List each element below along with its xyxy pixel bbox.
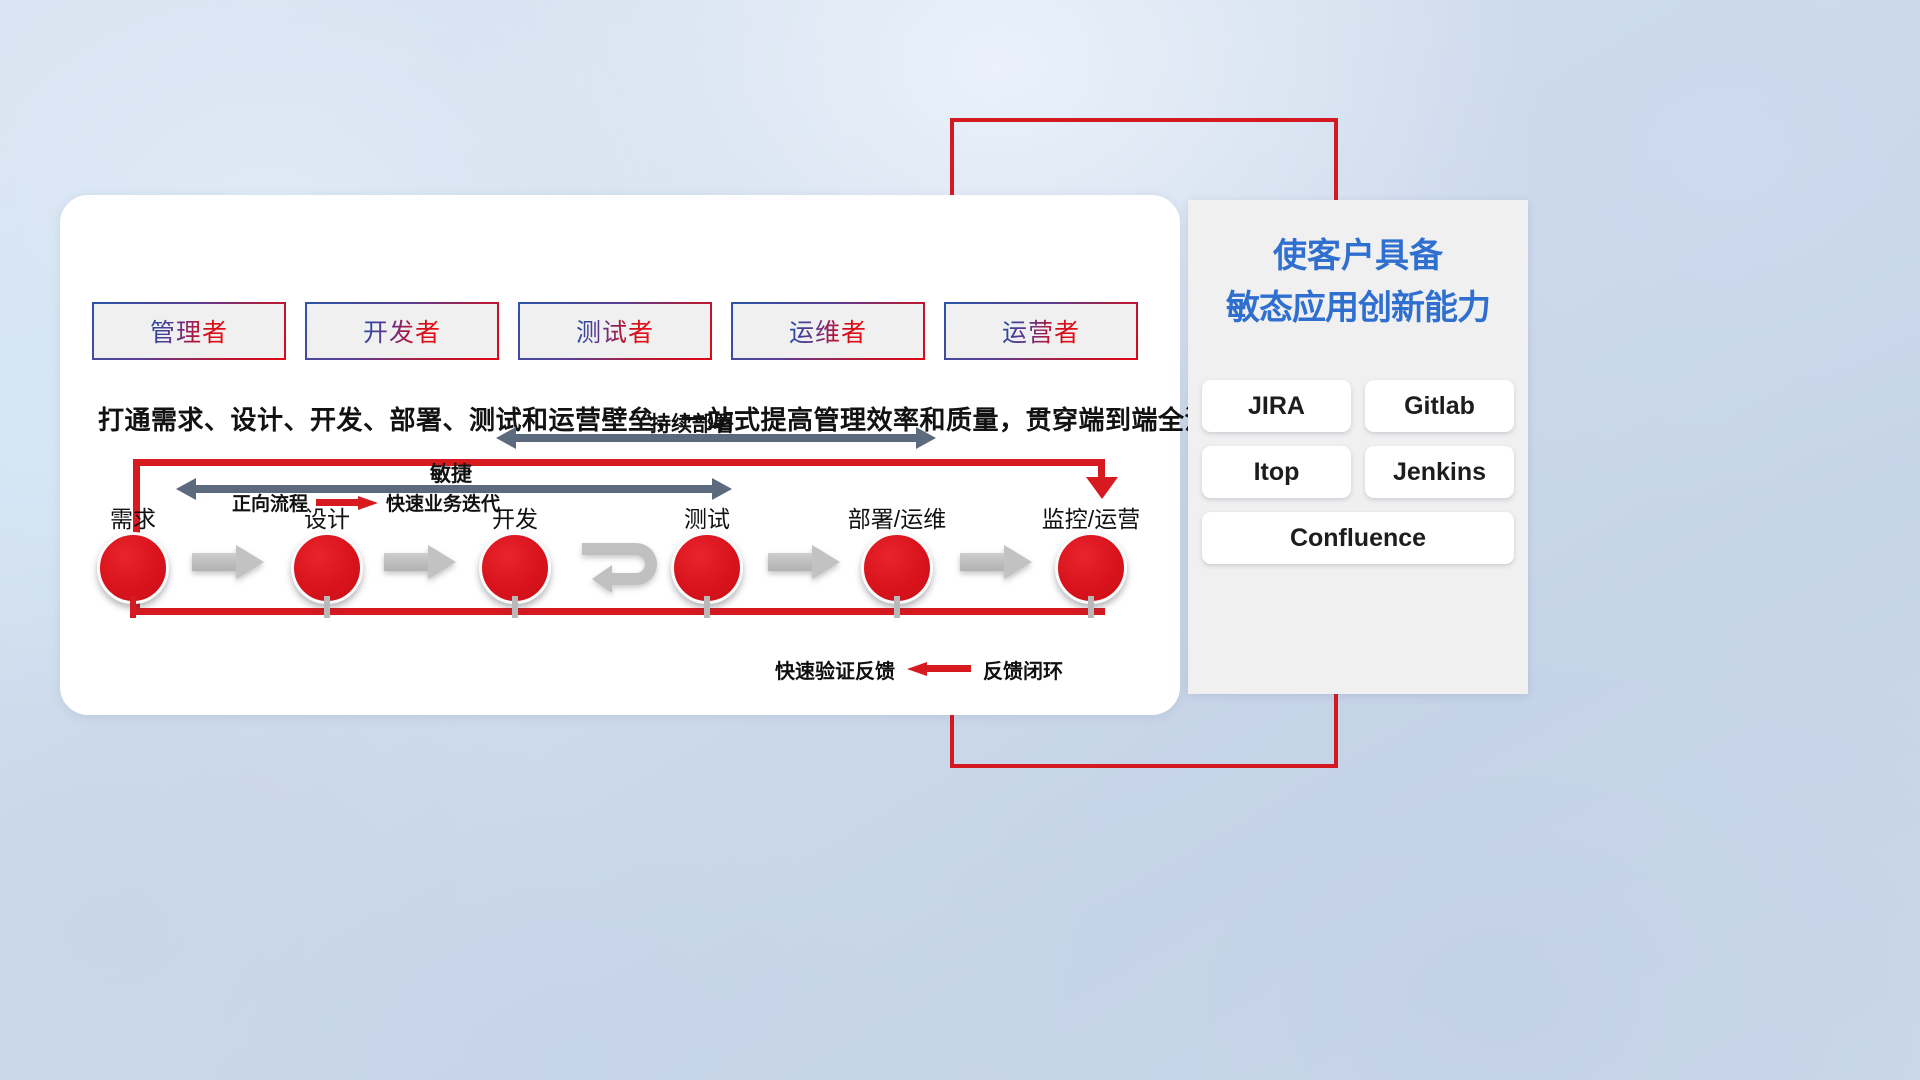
tool-chip-jenkins[interactable]: Jenkins: [1365, 446, 1514, 498]
u-turn-loop-icon: [578, 535, 674, 593]
node-label: 测试: [684, 500, 730, 534]
role-box-row: 管理者 开发者 测试者 运维者 运营者: [92, 302, 1138, 360]
role-box-developer[interactable]: 开发者: [305, 302, 499, 360]
node-label: 设计: [304, 500, 350, 534]
connector-arrow-icon-4: [960, 545, 1032, 579]
main-white-card: [60, 195, 1180, 715]
role-box-operations[interactable]: 运营者: [944, 302, 1138, 360]
node-circle-icon: [291, 532, 363, 604]
panel-title-line2: 敏态应用创新能力: [1188, 282, 1528, 334]
role-label: 开发者: [363, 313, 441, 349]
node-stem: [512, 596, 518, 618]
node-label: 需求: [110, 500, 156, 534]
tool-chip-jira[interactable]: JIRA: [1202, 380, 1351, 432]
node-stem: [704, 596, 710, 618]
node-stem: [130, 596, 136, 618]
role-label: 运维者: [789, 313, 867, 349]
tool-chip-list: JIRA Gitlab Itop Jenkins Confluence: [1202, 380, 1514, 564]
node-circle-icon: [1055, 532, 1127, 604]
legend-feedback-loop: 快速验证反馈 反馈闭环: [775, 654, 1063, 684]
continuous-deploy-double-arrow-icon: [496, 427, 936, 449]
tool-chip-confluence[interactable]: Confluence: [1202, 512, 1514, 564]
panel-title: 使客户具备 敏态应用创新能力: [1188, 230, 1528, 334]
left-arrow-icon: [907, 662, 971, 676]
role-box-ops[interactable]: 运维者: [731, 302, 925, 360]
node-label: 部署/运维: [848, 500, 946, 534]
connector-arrow-icon-1: [192, 545, 264, 579]
role-label: 运营者: [1002, 313, 1080, 349]
panel-title-line1: 使客户具备: [1188, 230, 1528, 282]
connector-arrow-icon-3: [768, 545, 840, 579]
role-label: 管理者: [150, 313, 228, 349]
legend-feedback-source: 反馈闭环: [983, 655, 1063, 684]
agile-double-arrow-icon: [176, 478, 732, 500]
right-value-panel: 使客户具备 敏态应用创新能力 JIRA Gitlab Itop Jenkins …: [1188, 200, 1528, 694]
node-circle-icon: [861, 532, 933, 604]
node-circle-icon: [97, 532, 169, 604]
node-circle-icon: [671, 532, 743, 604]
node-circle-icon: [479, 532, 551, 604]
connector-arrow-icon-2: [384, 545, 456, 579]
role-box-tester[interactable]: 测试者: [518, 302, 712, 360]
node-stem: [894, 596, 900, 618]
role-box-manager[interactable]: 管理者: [92, 302, 286, 360]
node-stem: [1088, 596, 1094, 618]
role-label: 测试者: [576, 313, 654, 349]
tool-chip-itop[interactable]: Itop: [1202, 446, 1351, 498]
node-label: 开发: [492, 500, 538, 534]
tool-chip-gitlab[interactable]: Gitlab: [1365, 380, 1514, 432]
legend-feedback-target: 快速验证反馈: [775, 655, 895, 684]
node-stem: [324, 596, 330, 618]
node-label: 监控/运营: [1042, 500, 1140, 534]
